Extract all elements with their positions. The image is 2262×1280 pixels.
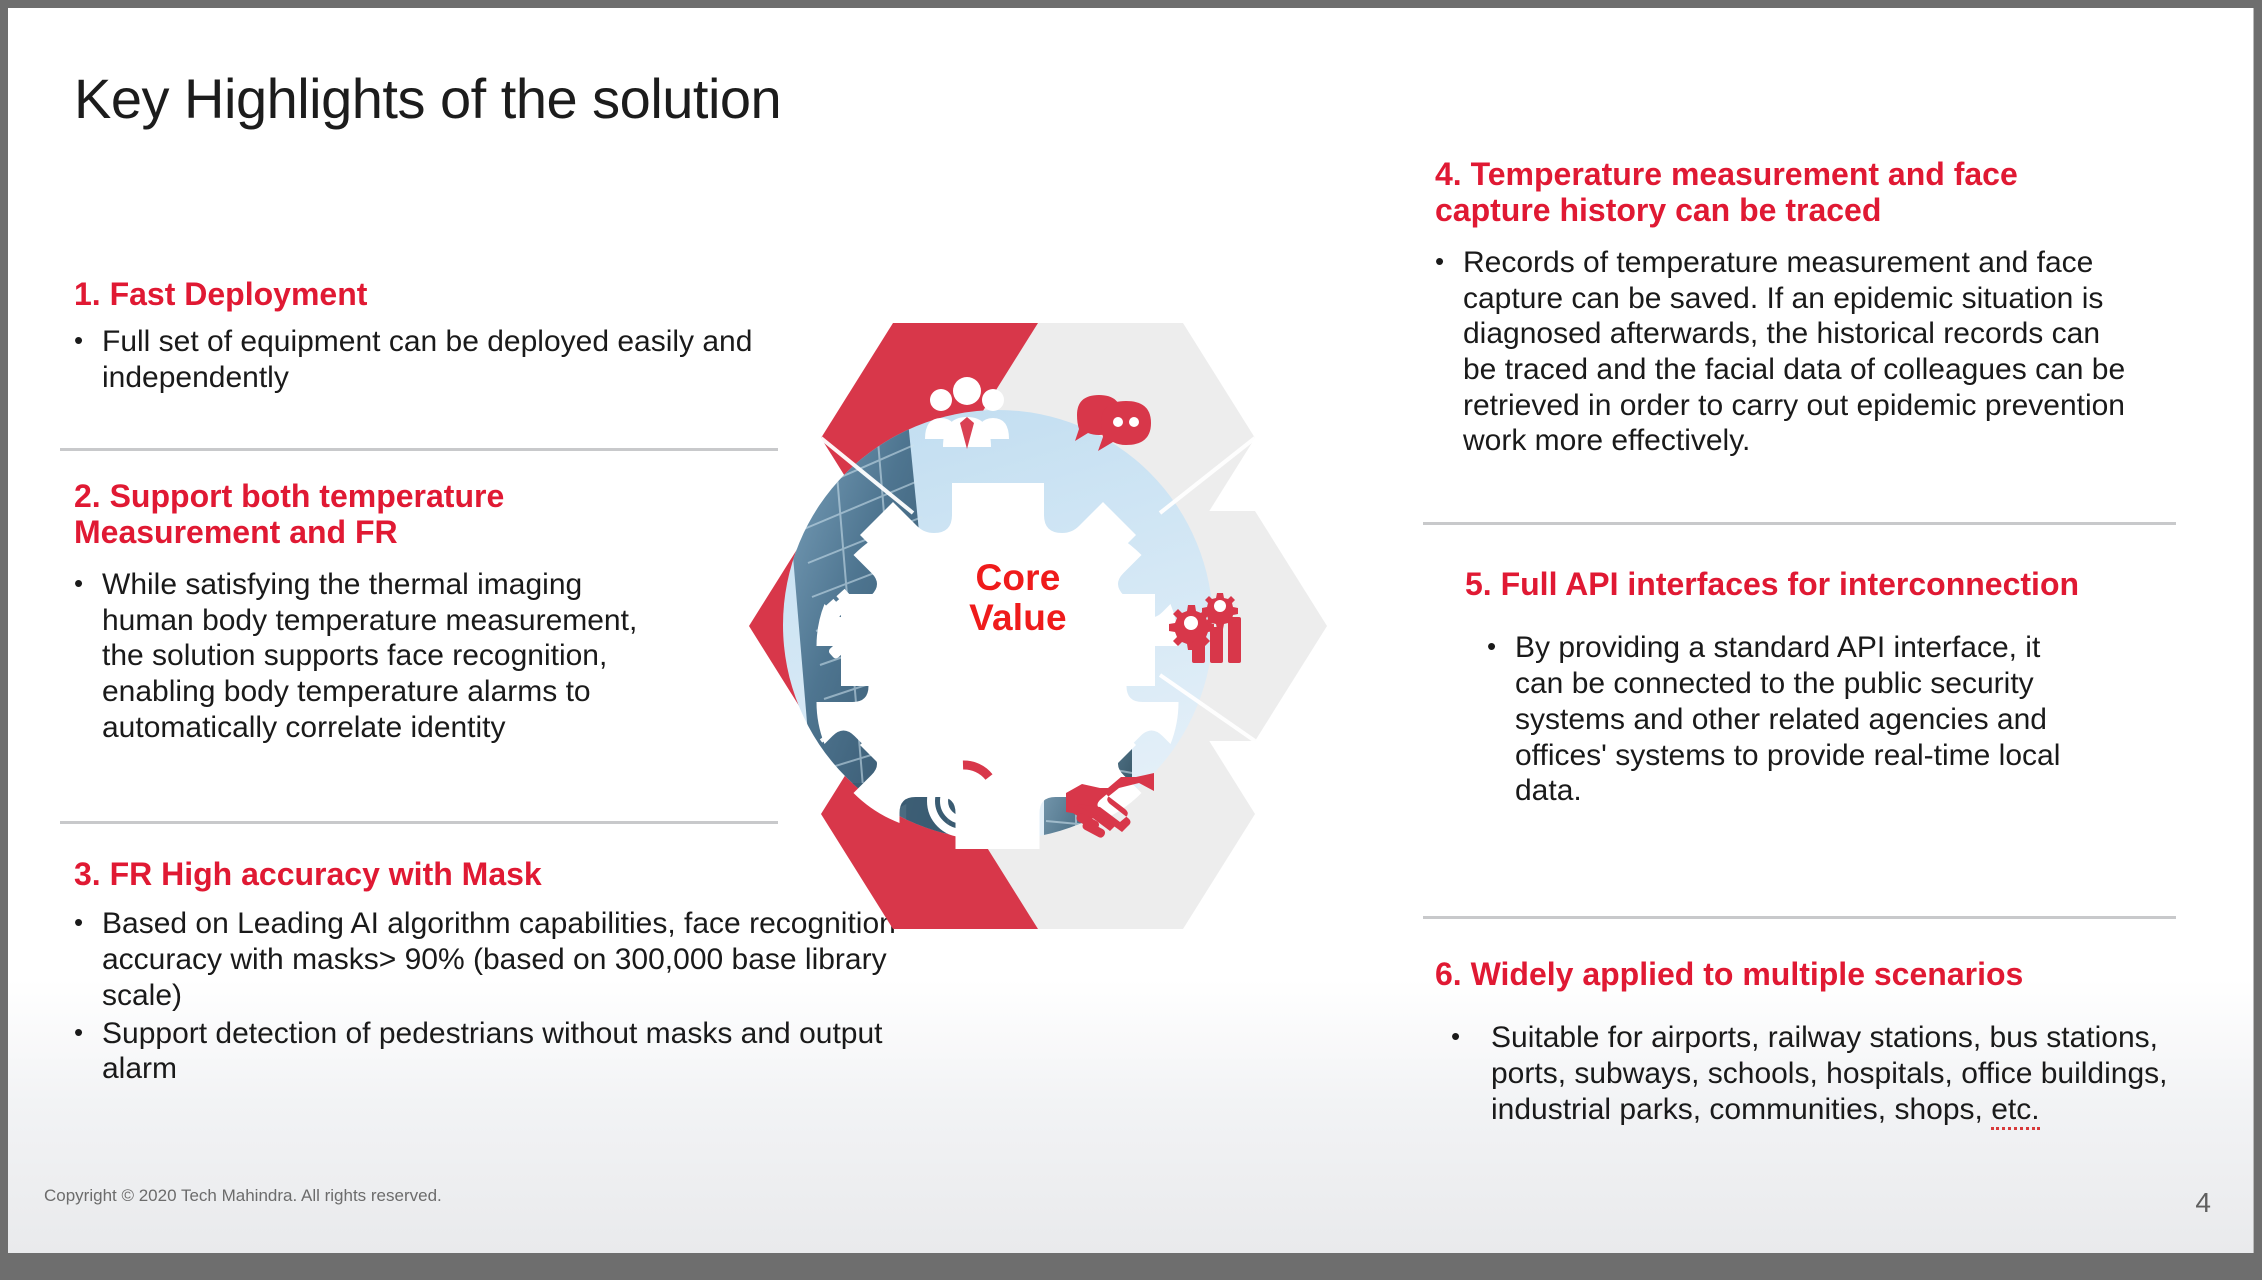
highlight-5-heading: 5. Full API interfaces for interconnecti… <box>1465 566 2085 602</box>
highlight-block-2: 2. Support both temperature Measurement … <box>74 478 714 747</box>
list-item-text: While satisfying the thermal imaging hum… <box>102 567 662 745</box>
highlight-block-6: 6. Widely applied to multiple scenarios … <box>1435 956 2215 1130</box>
page-title: Key Highlights of the solution <box>74 66 781 131</box>
bullet-dot-icon: • <box>74 567 102 745</box>
list-item-text: Support detection of pedestrians without… <box>102 1016 892 1087</box>
target-icon <box>917 747 1013 843</box>
core-value-hex-diagram: Core Value <box>708 313 1328 953</box>
copyright-notice: Copyright © 2020 Tech Mahindra. All righ… <box>44 1186 442 1206</box>
highlight-1-heading: 1. Fast Deployment <box>74 276 774 312</box>
list-item-text-main: Suitable for airports, railway stations,… <box>1491 1021 2167 1125</box>
chat-bubbles-icon <box>1063 375 1159 471</box>
highlight-6-heading: 6. Widely applied to multiple scenarios <box>1435 956 2215 992</box>
highlight-1-bullets: • Full set of equipment can be deployed … <box>74 324 774 395</box>
bullet-dot-icon: • <box>74 324 102 395</box>
list-item: • Suitable for airports, railway station… <box>1451 1020 2215 1127</box>
list-item-text: Records of temperature measurement and f… <box>1463 245 2135 459</box>
bullet-dot-icon: • <box>1487 630 1515 808</box>
page-number: 4 <box>2195 1187 2211 1219</box>
bullet-dot-icon: • <box>1435 245 1463 459</box>
highlight-block-4: 4. Temperature measurement and face capt… <box>1435 156 2135 461</box>
divider-right-2 <box>1423 916 2176 919</box>
divider-left-1 <box>60 448 778 451</box>
highlight-block-5: 5. Full API interfaces for interconnecti… <box>1465 566 2085 811</box>
divider-left-2 <box>60 821 778 824</box>
bullet-dot-icon: • <box>74 906 102 1013</box>
highlight-6-bullets: • Suitable for airports, railway station… <box>1451 1020 2215 1127</box>
list-item: • Support detection of pedestrians witho… <box>74 1016 974 1087</box>
highlight-2-heading: 2. Support both temperature Measurement … <box>74 478 714 551</box>
list-item: • By providing a standard API interface,… <box>1487 630 2085 808</box>
handshake-icon <box>1060 755 1156 851</box>
highlight-block-1: 1. Fast Deployment • Full set of equipme… <box>74 276 774 398</box>
divider-right-1 <box>1423 522 2176 525</box>
highlight-2-bullets: • While satisfying the thermal imaging h… <box>74 567 714 745</box>
highlight-5-bullets: • By providing a standard API interface,… <box>1487 630 2085 808</box>
list-item: • Full set of equipment can be deployed … <box>74 324 774 395</box>
bullet-dot-icon: • <box>74 1016 102 1087</box>
people-group-icon <box>917 369 1013 465</box>
highlight-4-heading: 4. Temperature measurement and face capt… <box>1435 156 2135 229</box>
gears-bar-chart-icon <box>1160 575 1256 671</box>
list-item: • Records of temperature measurement and… <box>1435 245 2135 459</box>
slide-canvas: Key Highlights of the solution 1. Fast D… <box>8 8 2254 1253</box>
list-item-text: Full set of equipment can be deployed ea… <box>102 324 774 395</box>
list-item-text: By providing a standard API interface, i… <box>1515 630 2085 808</box>
misspelled-word: etc. <box>1991 1093 2039 1130</box>
list-item-text: Suitable for airports, railway stations,… <box>1491 1020 2171 1127</box>
bullet-dot-icon: • <box>1451 1020 1491 1127</box>
tools-icon <box>809 575 905 671</box>
list-item: • While satisfying the thermal imaging h… <box>74 567 714 745</box>
highlight-4-bullets: • Records of temperature measurement and… <box>1435 245 2135 459</box>
